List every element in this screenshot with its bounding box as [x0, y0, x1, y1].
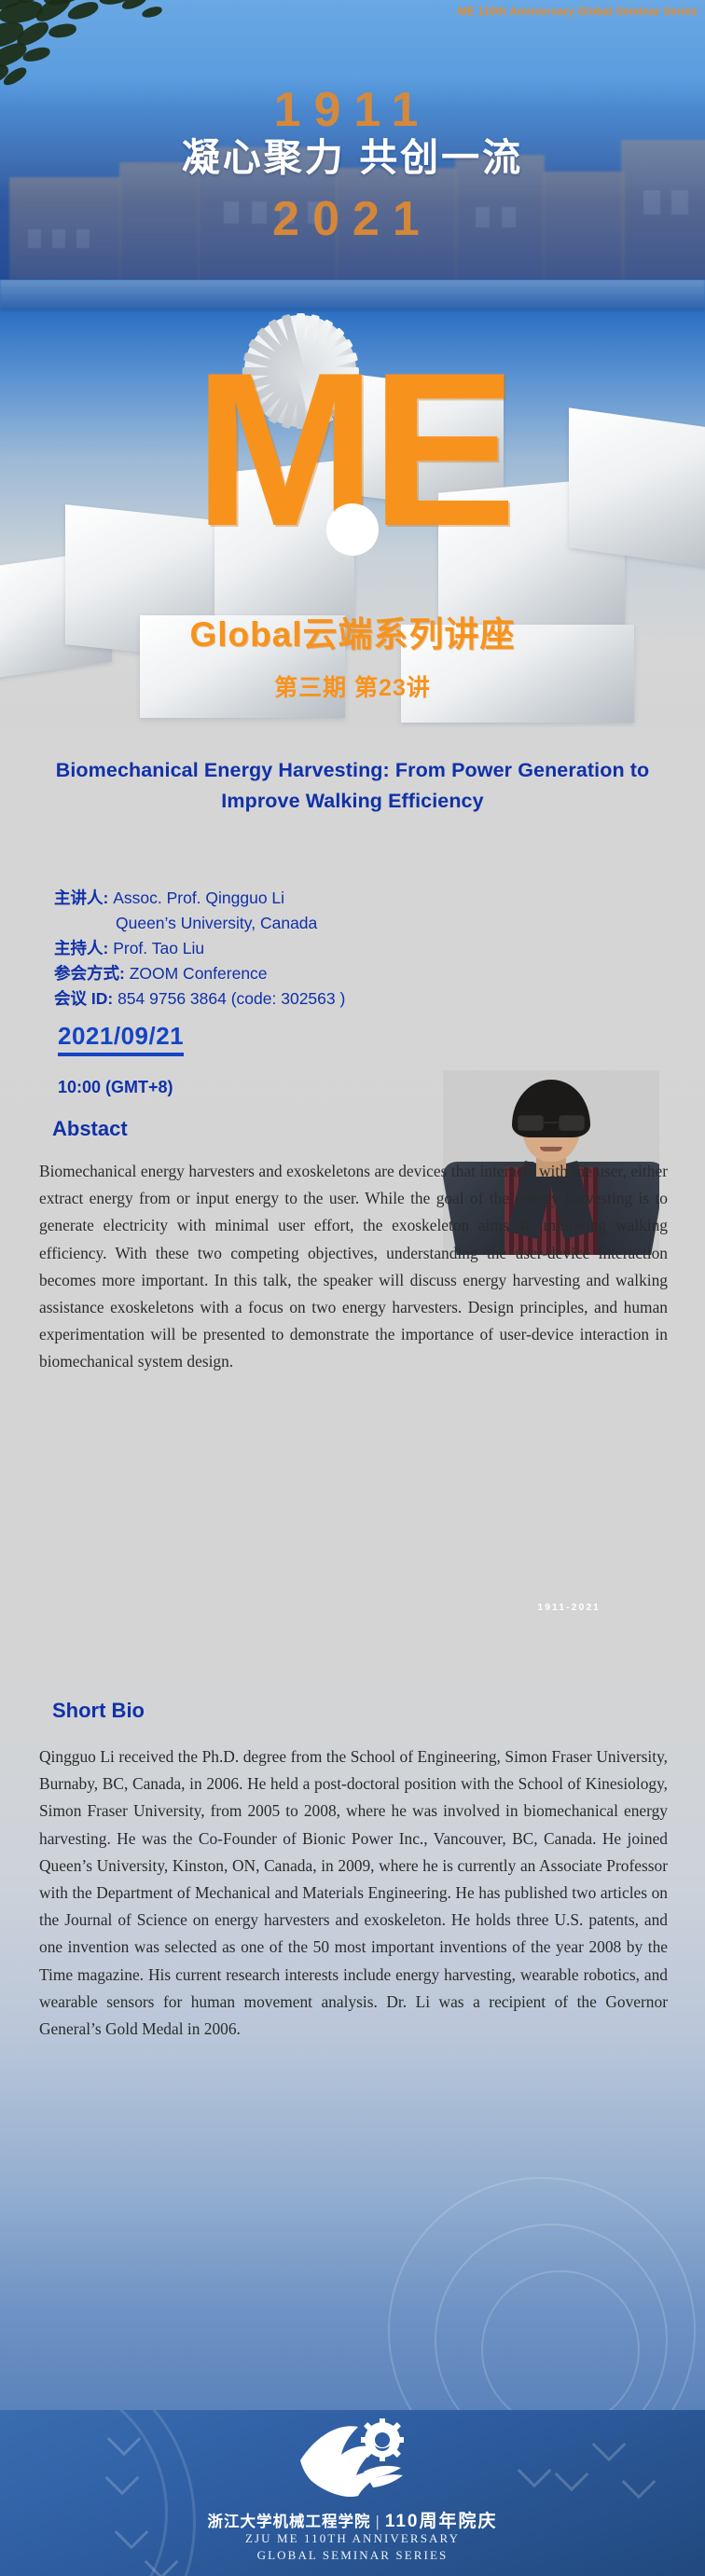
abstract-text: Biomechanical energy harvesters and exos… — [39, 1158, 668, 1376]
host-name: Prof. Tao Liu — [113, 939, 204, 957]
abstract-heading: Abstact — [52, 1117, 128, 1141]
hero-year-end: 2021 — [0, 191, 705, 247]
content-area: Biomechanical Energy Harvesting: From Po… — [0, 727, 705, 2410]
page-title: Biomechanical Energy Harvesting: From Po… — [34, 755, 671, 817]
footer-divider: | — [371, 2514, 385, 2530]
seminar-poster: ME 110th Anniversary Global Seminar Seri… — [0, 0, 705, 2576]
anniversary-tag: 1911-2021 — [537, 1602, 601, 1613]
seminar-info-block: 主讲人: Assoc. Prof. Qingguo Li Queen’s Uni… — [54, 886, 455, 1012]
footer-cn-line: 浙江大学机械工程学院|110周年院庆 — [0, 2507, 705, 2532]
ring-decoration — [351, 2149, 705, 2410]
footer-en-line-1: ZJU ME 110TH ANNIVERSARY — [0, 2531, 705, 2546]
mode-row: 参会方式: ZOOM Conference — [54, 961, 455, 986]
meeting-id-label: 会议 ID: — [54, 989, 113, 1008]
me-dot-accent — [326, 503, 379, 556]
footer-anniversary-cn: 110周年院庆 — [385, 2512, 498, 2531]
speaker-row: 主讲人: Assoc. Prof. Qingguo Li — [54, 886, 455, 911]
hero-banner: ME 110th Anniversary Global Seminar Seri… — [0, 0, 705, 280]
seminar-date: 2021/09/21 — [58, 1022, 184, 1056]
footer: 浙江大学机械工程学院|110周年院庆 ZJU ME 110TH ANNIVERS… — [0, 2410, 705, 2576]
hero-top-label: ME 110th Anniversary Global Seminar Seri… — [458, 7, 698, 18]
mode-label: 参会方式: — [54, 964, 125, 983]
meeting-id-value: 854 9756 3864 (code: 302563 ) — [117, 989, 345, 1008]
speaker-affiliation-row: Queen’s University, Canada — [54, 911, 455, 936]
episode-label: 第三期 第23讲 — [0, 669, 705, 703]
bio-text: Qingguo Li received the Ph.D. degree fro… — [39, 1743, 668, 2043]
me-logo-section: ME Global云端系列讲座 — [0, 280, 705, 727]
footer-en-line-2: GLOBAL SEMINAR SERIES — [0, 2548, 705, 2563]
me-subtitle: Global云端系列讲座 — [0, 606, 705, 656]
host-row: 主持人: Prof. Tao Liu — [54, 936, 455, 961]
zju-me-bird-gear-logo-icon — [295, 2418, 410, 2503]
seminar-time: 10:00 (GMT+8) — [58, 1078, 173, 1097]
road-blur-strip — [0, 280, 705, 311]
bio-heading: Short Bio — [52, 1699, 145, 1723]
speaker-affiliation: Queen’s University, Canada — [116, 914, 317, 932]
speaker-label: 主讲人: — [54, 889, 108, 907]
meeting-id-row: 会议 ID: 854 9756 3864 (code: 302563 ) — [54, 986, 455, 1012]
mode-value: ZOOM Conference — [130, 964, 268, 983]
hero-slogan: 凝心聚力 共创一流 — [0, 126, 705, 182]
footer-school-name: 浙江大学机械工程学院 — [208, 2514, 371, 2530]
speaker-name: Assoc. Prof. Qingguo Li — [113, 889, 284, 907]
host-label: 主持人: — [54, 939, 108, 957]
